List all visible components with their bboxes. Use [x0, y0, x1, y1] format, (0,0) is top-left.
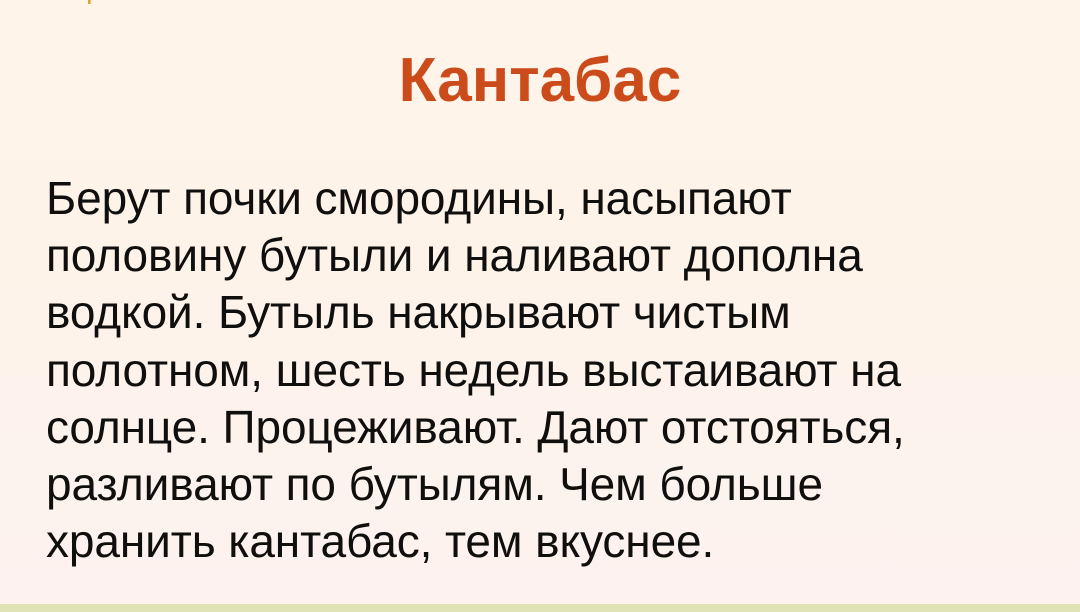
- slide-canvas: рыт Кантабас Берут почки смородины, насы…: [0, 0, 1080, 612]
- clipped-text-above-fragment: рыт: [0, 0, 1080, 6]
- body-line: разливают по бутылям. Чем больше: [46, 456, 946, 513]
- body-line: солнце. Процеживают. Дают отстояться,: [46, 399, 946, 456]
- body-line: половину бутыли и наливают дополна: [46, 227, 946, 284]
- body-text-block: Берут почки смородины, насыпают половину…: [46, 170, 946, 570]
- bottom-accent-band: [0, 604, 1080, 612]
- body-line: хранить кантабас, тем вкуснее.: [46, 513, 946, 570]
- body-line: полотном, шесть недель выстаивают на: [46, 342, 946, 399]
- page-title: Кантабас: [0, 44, 1080, 118]
- body-line: водкой. Бутыль накрывают чистым: [46, 284, 946, 341]
- body-line: Берут почки смородины, насыпают: [46, 170, 946, 227]
